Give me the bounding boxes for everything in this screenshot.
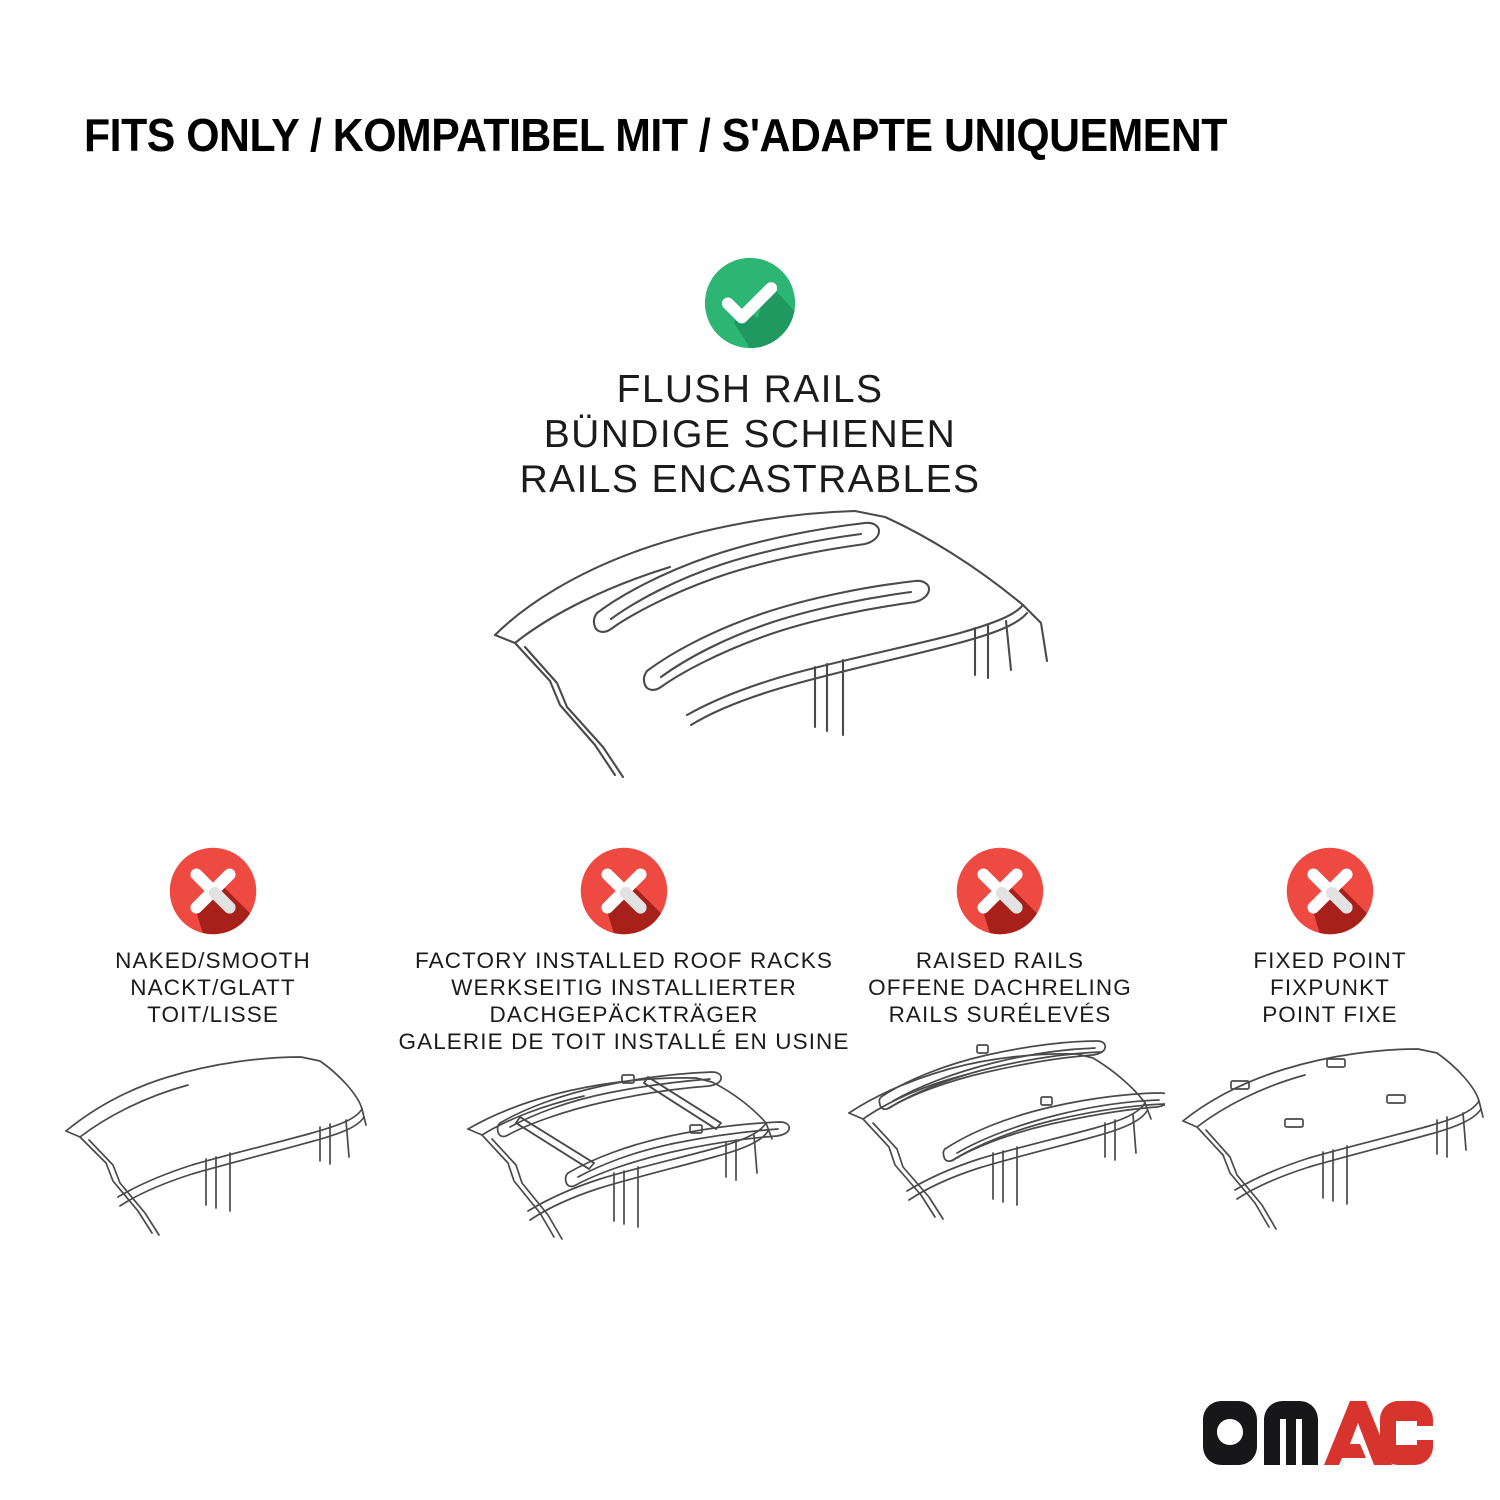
check-circle-icon: [702, 255, 798, 351]
reject-label-line-de: OFFENE DACHRELING: [835, 974, 1165, 1001]
reject-label-line-de: NACKT/GLATT: [58, 974, 368, 1001]
reject-label-fixed-point: FIXED POINT FIXPUNKT POINT FIXE: [1175, 947, 1485, 1028]
reject-label-naked-smooth: NAKED/SMOOTH NACKT/GLATT TOIT/LISSE: [58, 947, 368, 1028]
x-circle-icon: [954, 845, 1046, 937]
approved-heading-line-de: BÜNDIGE SCHIENEN: [0, 412, 1500, 457]
reject-label-line-fr: RAILS SURÉLEVÉS: [835, 1001, 1165, 1028]
reject-label-raised-rails: RAISED RAILS OFFENE DACHRELING RAILS SUR…: [835, 947, 1165, 1028]
car-roof-naked-smooth-illustration: [58, 1035, 368, 1245]
approved-heading: FLUSH RAILS BÜNDIGE SCHIENEN RAILS ENCAS…: [0, 367, 1500, 502]
reject-label-line-de-2: DACHGEPÄCKTRÄGER: [394, 1001, 854, 1028]
reject-label-line-en: FIXED POINT: [1175, 947, 1485, 974]
reject-column-raised-rails: RAISED RAILS OFFENE DACHRELING RAILS SUR…: [835, 845, 1165, 1028]
car-roof-raised-rails-illustration: [835, 1035, 1165, 1245]
car-roof-factory-racks-illustration: [394, 1063, 854, 1273]
omac-logo: [1200, 1400, 1436, 1466]
reject-column-naked-smooth: NAKED/SMOOTH NACKT/GLATT TOIT/LISSE: [58, 845, 368, 1028]
reject-column-fixed-point: FIXED POINT FIXPUNKT POINT FIXE: [1175, 845, 1485, 1028]
reject-label-line-fr: GALERIE DE TOIT INSTALLÉ EN USINE: [394, 1028, 854, 1055]
reject-label-line-en: RAISED RAILS: [835, 947, 1165, 974]
reject-label-line-de-1: WERKSEITIG INSTALLIERTER: [394, 974, 854, 1001]
x-circle-icon: [1284, 845, 1376, 937]
page-title: FITS ONLY / KOMPATIBEL MIT / S'ADAPTE UN…: [84, 108, 1330, 162]
approved-heading-line-en: FLUSH RAILS: [0, 367, 1500, 412]
reject-column-factory-racks: FACTORY INSTALLED ROOF RACKS WERKSEITIG …: [394, 845, 854, 1055]
car-roof-fixed-point-illustration: [1175, 1035, 1485, 1245]
x-circle-icon: [167, 845, 259, 937]
reject-label-line-en: FACTORY INSTALLED ROOF RACKS: [394, 947, 854, 974]
car-roof-flush-rails-illustration: [455, 495, 1055, 795]
reject-label-line-de: FIXPUNKT: [1175, 974, 1485, 1001]
x-circle-icon: [578, 845, 670, 937]
reject-label-line-fr: TOIT/LISSE: [58, 1001, 368, 1028]
reject-label-line-fr: POINT FIXE: [1175, 1001, 1485, 1028]
reject-label-line-en: NAKED/SMOOTH: [58, 947, 368, 974]
approved-section: FLUSH RAILS BÜNDIGE SCHIENEN RAILS ENCAS…: [0, 255, 1500, 502]
reject-label-factory-racks: FACTORY INSTALLED ROOF RACKS WERKSEITIG …: [394, 947, 854, 1055]
rejected-section: NAKED/SMOOTH NACKT/GLATT TOIT/LISSE: [0, 845, 1500, 1265]
